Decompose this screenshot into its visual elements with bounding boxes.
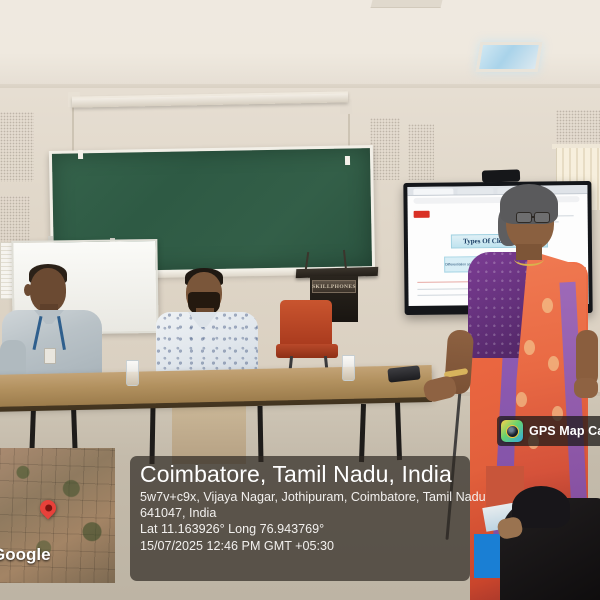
id-badge bbox=[44, 348, 56, 364]
red-chair-seat bbox=[276, 344, 338, 358]
eyeglasses-bridge bbox=[531, 216, 535, 218]
projector-screen-rod bbox=[72, 105, 74, 151]
ceiling-light-fixture bbox=[476, 42, 543, 72]
location-address-line-2: 641047, India bbox=[140, 505, 460, 521]
podium-nameplate: SKILLPHONES bbox=[312, 280, 356, 293]
gps-camera-photo: Types Of Cloud Services Differentiation … bbox=[0, 0, 600, 600]
water-glass bbox=[126, 360, 139, 386]
slide-app-logo-icon bbox=[414, 211, 430, 218]
red-chair-back bbox=[280, 300, 332, 348]
gps-map-camera-label: GPS Map Camera bbox=[529, 424, 600, 438]
location-coordinates: Lat 11.163926° Long 76.943769° bbox=[140, 521, 460, 537]
acoustic-panel bbox=[370, 118, 400, 180]
location-address-line-1: 5w7v+c9x, Vijaya Nagar, Jothipuram, Coim… bbox=[140, 489, 460, 505]
saree-motif bbox=[548, 356, 559, 371]
location-datetime: 15/07/2025 12:46 PM GMT +05:30 bbox=[140, 538, 460, 554]
necklace bbox=[514, 252, 544, 266]
map-thumbnail[interactable]: Google bbox=[0, 448, 115, 583]
saree-motif bbox=[542, 298, 553, 313]
location-city: Coimbatore, Tamil Nadu, India bbox=[140, 462, 460, 488]
slide-text-line bbox=[417, 288, 471, 290]
browser-tab[interactable] bbox=[457, 188, 493, 194]
location-overlay: Google Coimbatore, Tamil Nadu, India 5w7… bbox=[0, 448, 600, 600]
gps-camera-app-icon bbox=[501, 420, 523, 442]
google-watermark: Google bbox=[0, 545, 51, 565]
saree-motif bbox=[524, 340, 535, 355]
chalkboard-clip bbox=[345, 156, 350, 165]
ear bbox=[24, 284, 32, 296]
acoustic-panel bbox=[0, 112, 34, 182]
hand bbox=[574, 378, 598, 398]
map-pin-icon bbox=[37, 497, 60, 520]
overhead-camera bbox=[482, 169, 520, 182]
eyeglasses-lens bbox=[534, 212, 550, 223]
acoustic-panel bbox=[408, 124, 434, 180]
chalkboard-clip bbox=[78, 150, 83, 159]
browser-tab[interactable] bbox=[413, 188, 453, 194]
location-info-panel: Coimbatore, Tamil Nadu, India 5w7v+c9x, … bbox=[130, 456, 470, 581]
saree-motif bbox=[516, 392, 527, 407]
gps-map-camera-watermark: GPS Map Camera bbox=[497, 416, 600, 446]
water-glass bbox=[342, 355, 355, 381]
eyeglasses-lens bbox=[516, 212, 532, 223]
podium-nameplate-text: SKILLPHONES bbox=[312, 284, 356, 290]
camera-lens-icon bbox=[506, 425, 519, 438]
ceiling-vent bbox=[371, 0, 444, 8]
